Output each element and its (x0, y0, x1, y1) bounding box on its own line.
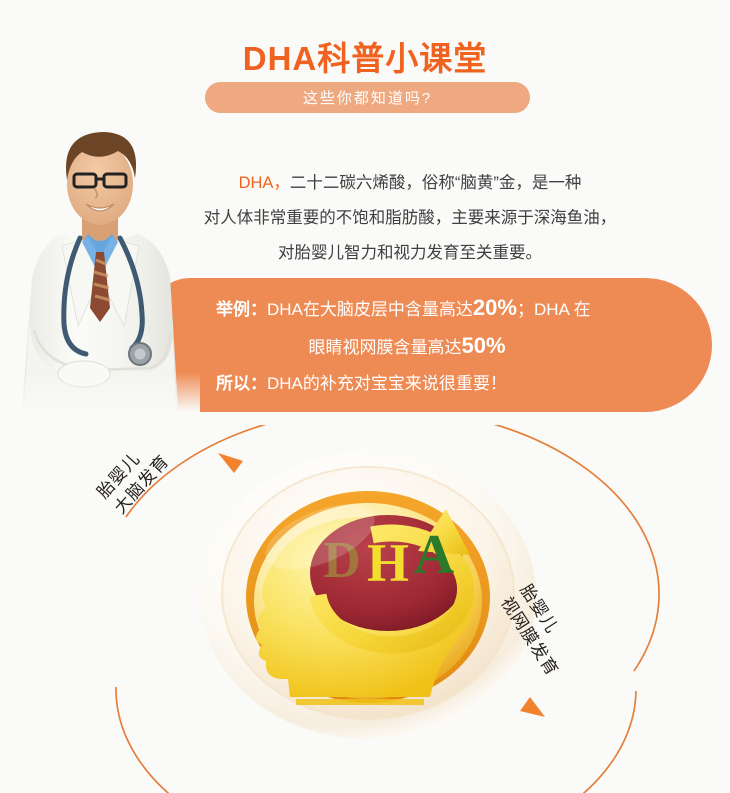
callout-example-line2-text: 眼睛视网膜含量高达 (308, 338, 461, 357)
subtitle-pill: 这些你都知道吗? (205, 82, 530, 113)
intro-line1: 二十二碳六烯酸，俗称“脑黄”金，是一种 (290, 174, 582, 192)
callout-example-text-a: DHA在大脑皮层中含量高达 (267, 300, 473, 319)
callout-example-line: 举例：DHA在大脑皮层中含量高达20%；DHA 在 (216, 290, 694, 328)
infographic-page: DHA科普小课堂 这些你都知道吗? DHA，二十二碳六烯酸，俗称“脑黄”金，是一… (0, 0, 730, 793)
top-arrow-head (218, 453, 243, 473)
callout-example-value-b: 50% (461, 333, 505, 358)
callout-example-line2: 眼睛视网膜含量高达50% (216, 328, 694, 366)
stethoscope-diaphragm (135, 349, 146, 360)
logo-letter-a: A (414, 524, 455, 586)
subtitle-text: 这些你都知道吗? (303, 87, 432, 108)
logo-letter-h: H (367, 533, 409, 593)
callout-example-label: 举例： (216, 300, 267, 319)
page-title: DHA科普小课堂 (0, 32, 730, 80)
intro-highlight: DHA， (239, 174, 290, 192)
intro-paragraph: DHA，二十二碳六烯酸，俗称“脑黄”金，是一种 对人体非常重要的不饱和脂肪酸，主… (185, 166, 635, 271)
photo-bottom-fade (0, 372, 200, 418)
callout-conclusion-text: DHA的补充对宝宝来说很重要！ (267, 374, 507, 393)
dha-diagram: D H A 胎婴儿 大脑发育 胎婴儿 视网膜发育 (0, 425, 730, 793)
doctor-photo (0, 118, 200, 418)
intro-line3: 对胎婴儿智力和视力发育至关重要。 (278, 244, 542, 262)
orange-callout-box: 举例：DHA在大脑皮层中含量高达20%；DHA 在 眼睛视网膜含量高达50% 所… (150, 278, 712, 412)
callout-example-value-a: 20% (473, 295, 517, 320)
callout-content: 举例：DHA在大脑皮层中含量高达20%；DHA 在 眼睛视网膜含量高达50% 所… (216, 290, 694, 402)
neck-bar (296, 699, 424, 705)
callout-conclusion-line: 所以：DHA的补充对宝宝来说很重要！ (216, 366, 694, 402)
bottom-arrow-head (520, 697, 545, 717)
callout-conclusion-label: 所以： (216, 374, 267, 393)
intro-line2: 对人体非常重要的不饱和脂肪酸，主要来源于深海鱼油， (204, 209, 617, 227)
callout-example-text-b: ；DHA 在 (517, 300, 591, 319)
